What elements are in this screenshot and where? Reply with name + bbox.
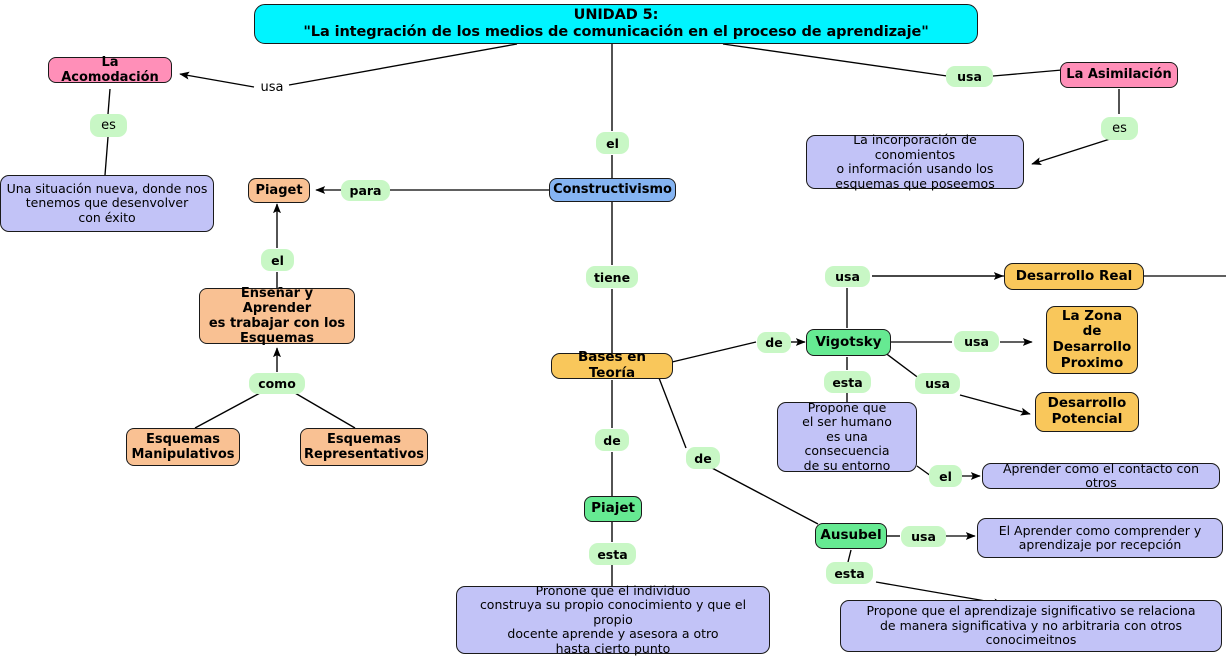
node-label: La Acomodación — [49, 55, 171, 85]
node-label: Ausubel — [815, 528, 886, 544]
node-la-asimilacion[interactable]: La Asimilación — [1060, 62, 1178, 88]
link-label-usa-ausubel: usa — [901, 526, 946, 547]
link-label-text: usa — [925, 376, 950, 391]
link-label-text: para — [350, 183, 382, 198]
link-label-text: esta — [834, 566, 864, 581]
node-desarrollo-real[interactable]: Desarrollo Real — [1004, 263, 1144, 290]
link-label-text: de — [765, 335, 782, 350]
node-constructivismo[interactable]: Constructivismo — [549, 178, 676, 202]
link-label-usa-zona: usa — [954, 331, 999, 352]
link-label-text: es — [1112, 121, 1127, 136]
node-label: La Asimilación — [1061, 67, 1177, 82]
node-asimilacion-descripcion: La incorporación de conomientos o inform… — [806, 135, 1024, 189]
node-bases-en-teoria[interactable]: Bases en Teoría — [551, 353, 673, 379]
link-label-text: usa — [835, 269, 860, 284]
link-label-text: esta — [832, 375, 862, 390]
link-label-text: usa — [261, 80, 284, 95]
link-label-esta-vigotsky: esta — [824, 371, 871, 393]
node-label: Piajet — [585, 501, 641, 517]
node-label: Propone que el ser humano es una consecu… — [778, 401, 916, 474]
node-label: Desarrollo Potencial — [1036, 396, 1138, 427]
node-la-acomodacion[interactable]: La Acomodación — [48, 57, 172, 83]
link-label-de-piajet: de — [595, 429, 629, 451]
link-label-text: de — [603, 433, 620, 448]
node-aprender-contacto: Aprender como el contacto con otros — [982, 463, 1220, 489]
node-zona-desarrollo-proximo[interactable]: La Zona de Desarrollo Proximo — [1046, 306, 1138, 374]
node-esquemas-manipulativos[interactable]: Esquemas Manipulativos — [126, 428, 240, 466]
link-label-text: esta — [597, 547, 627, 562]
link-label-text: el — [271, 253, 284, 268]
link-label-usa-potencial: usa — [915, 373, 960, 394]
link-label-el-piaget: el — [261, 249, 294, 271]
link-label-text: usa — [964, 334, 989, 349]
node-label: Desarrollo Real — [1005, 269, 1143, 285]
node-label: Esquemas Manipulativos — [126, 432, 239, 462]
title-line1: UNIDAD 5: — [250, 7, 982, 24]
node-title: UNIDAD 5: "La integración de los medios … — [254, 4, 978, 44]
node-piaget[interactable]: Piaget — [248, 178, 310, 203]
node-label: Enseñar y Aprender es trabajar con los E… — [200, 286, 354, 346]
link-label-es-acomodacion: es — [90, 114, 127, 137]
node-acomodacion-descripcion: Una situación nueva, donde nos tenemos q… — [0, 175, 214, 232]
node-piajet[interactable]: Piajet — [584, 496, 642, 522]
concept-map-canvas: UNIDAD 5: "La integración de los medios … — [0, 0, 1226, 658]
link-label-usa-asimilacion: usa — [946, 66, 993, 87]
link-label-text: es — [101, 118, 116, 133]
link-label-text: de — [694, 451, 711, 466]
node-ausubel[interactable]: Ausubel — [815, 523, 887, 549]
node-label: Bases en Teoría — [552, 350, 672, 381]
link-label-de-ausubel: de — [686, 447, 720, 469]
link-label-text: usa — [957, 69, 982, 84]
link-label-text: usa — [911, 529, 936, 544]
node-piajet-descripcion: Pronone que el individuo construya su pr… — [456, 586, 770, 654]
link-label-text: como — [258, 376, 296, 391]
link-label-text: el — [939, 469, 952, 484]
node-ausubel-descripcion-2: Propone que el aprendizaje significativo… — [840, 600, 1222, 652]
link-label-el-constructivismo: el — [596, 132, 629, 154]
node-label: El Aprender como comprender y aprendizaj… — [978, 524, 1222, 553]
node-ensenar-aprender: Enseñar y Aprender es trabajar con los E… — [199, 288, 355, 344]
node-esquemas-representativos[interactable]: Esquemas Representativos — [300, 428, 428, 466]
link-label-para: para — [341, 180, 390, 201]
link-label-esta-ausubel: esta — [826, 562, 873, 584]
node-label: Piaget — [249, 183, 309, 198]
node-label: La incorporación de conomientos o inform… — [807, 133, 1023, 191]
link-label-text: el — [606, 136, 619, 151]
title-line2: "La integración de los medios de comunic… — [250, 24, 982, 41]
node-desarrollo-potencial[interactable]: Desarrollo Potencial — [1035, 392, 1139, 432]
node-label: Pronone que el individuo construya su pr… — [457, 584, 769, 657]
node-label: Propone que el aprendizaje significativo… — [841, 604, 1221, 648]
link-label-esta-piajet: esta — [589, 543, 636, 565]
node-label: La Zona de Desarrollo Proximo — [1047, 309, 1137, 372]
node-ausubel-descripcion-1: El Aprender como comprender y aprendizaj… — [977, 518, 1223, 558]
link-label-usa-acomodacion: usa — [253, 77, 291, 97]
link-label-es-asimilacion: es — [1101, 117, 1138, 140]
node-label: Esquemas Representativos — [299, 432, 429, 462]
link-label-text: tiene — [594, 270, 630, 285]
link-label-el-contacto: el — [929, 465, 962, 487]
node-label: Una situación nueva, donde nos tenemos q… — [1, 182, 213, 226]
link-label-tiene: tiene — [586, 266, 638, 288]
node-label: Vigotsky — [807, 335, 890, 351]
node-label: Aprender como el contacto con otros — [983, 462, 1219, 491]
link-label-como: como — [249, 373, 305, 394]
node-vigotsky[interactable]: Vigotsky — [806, 329, 891, 356]
link-label-de-vigotsky: de — [757, 332, 791, 353]
node-vigotsky-descripcion: Propone que el ser humano es una consecu… — [777, 402, 917, 472]
link-label-usa-desarrollo-real: usa — [825, 266, 870, 287]
node-label: Constructivismo — [548, 182, 677, 197]
